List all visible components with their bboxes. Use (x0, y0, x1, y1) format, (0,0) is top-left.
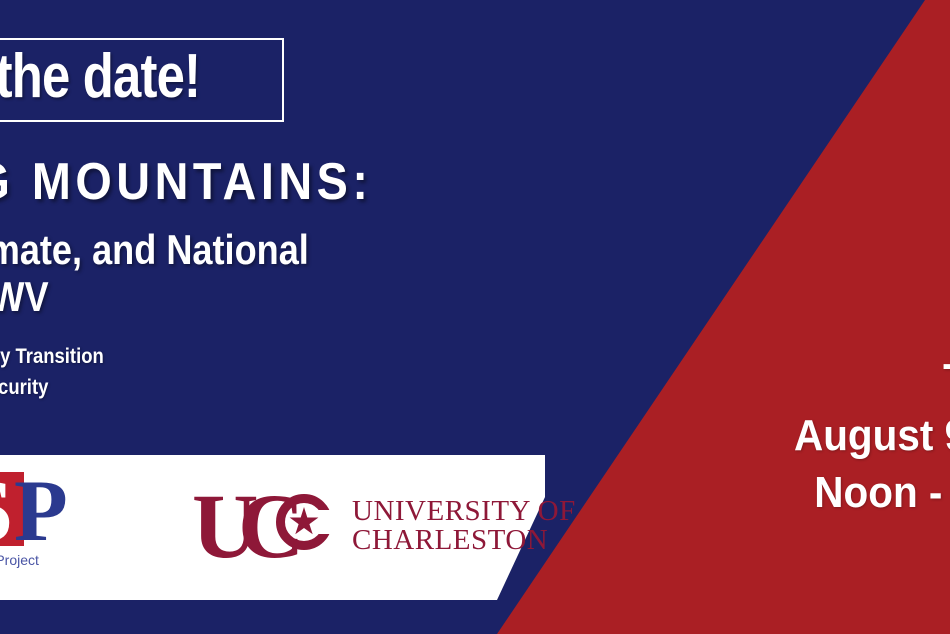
uc-name-line-2: CHARLESTON (352, 526, 576, 555)
event-time: Noon - 1:3 (794, 465, 950, 521)
uc-circle-notch (314, 510, 336, 534)
description-line-2: e National Security (0, 373, 304, 403)
uc-wordmark: UNIVERSITY OF CHARLESTON (352, 497, 576, 555)
event-headline: VING MOUNTAINS: (0, 156, 440, 208)
save-the-date-text: ave the date! (0, 46, 200, 108)
university-of-charleston-logo: U C UNIVERSITY OF CHARLESTON (192, 490, 576, 562)
subheadline-line-1: gy, Climate, and National (0, 226, 364, 273)
nsp-letter-s: S (0, 468, 13, 556)
uc-name-line-1: UNIVERSITY OF (352, 497, 576, 526)
event-subheadline: gy, Climate, and National rity in WV (0, 226, 364, 320)
uc-logo-mark: U C (192, 490, 342, 562)
event-day-of-week: Tue (794, 352, 950, 408)
national-security-project-logo: S P curity Project (0, 470, 116, 568)
save-the-date-banner: ave the date! VING MOUNTAINS: gy, Climat… (0, 0, 950, 634)
description-line-1: ing the Energy Transition (0, 342, 304, 372)
nsp-letter-p: P (14, 468, 68, 556)
event-date-block: Tue August 9, 2 Noon - 1:3 (775, 352, 950, 521)
event-date: August 9, 2 (794, 408, 950, 464)
subheadline-line-2: rity in WV (0, 273, 364, 320)
nsp-logo-mark: S P (0, 470, 86, 548)
save-the-date-box: ave the date! (0, 38, 284, 122)
left-content-column: ave the date! VING MOUNTAINS: gy, Climat… (0, 0, 502, 403)
event-description: ing the Energy Transition e National Sec… (0, 342, 304, 403)
